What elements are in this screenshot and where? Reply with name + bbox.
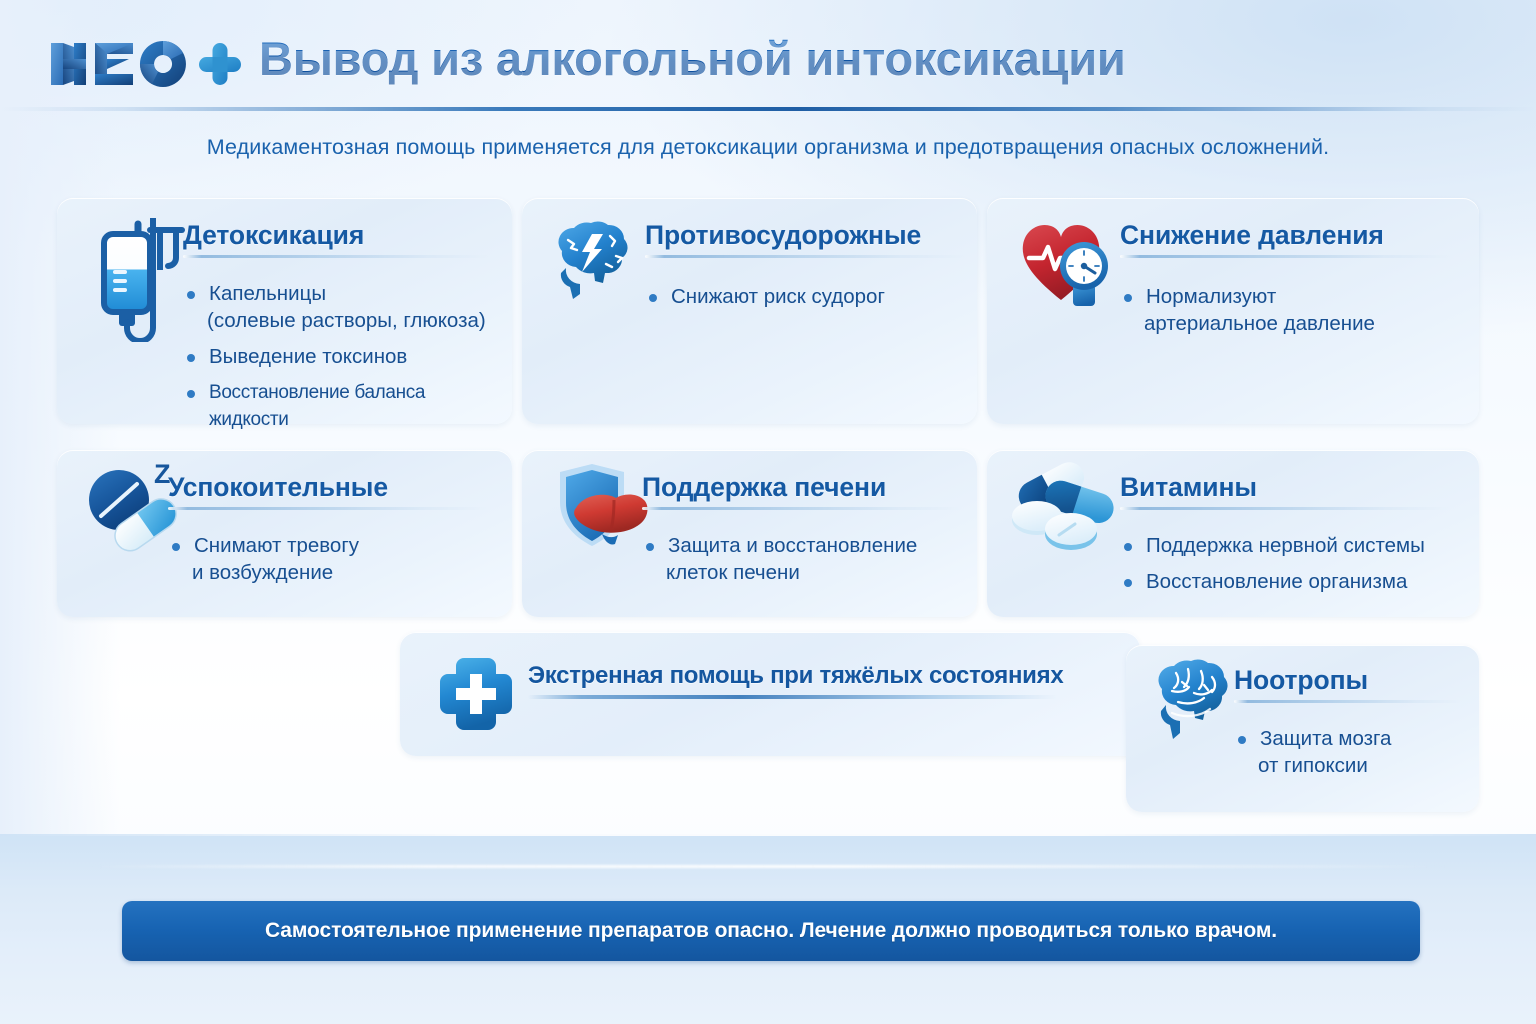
infographic-root: Вывод из алкогольной интоксикации Медика… <box>0 0 1536 1024</box>
bullet-text: Защита и восстановление <box>668 534 917 557</box>
card-vitamins-header: Витамины <box>1120 472 1450 510</box>
heart-pressure-gauge-icon <box>1017 214 1121 319</box>
card-vitamins-bullets: Поддержка нервной системы Восстановление… <box>1120 532 1470 604</box>
card-nootropics-bullets: Защита мозга от гипоксии <box>1234 725 1464 788</box>
card-blood-pressure[interactable]: Снижение давления Нормализуют артериальн… <box>987 198 1479 424</box>
card-liver-support-bullets: Защита и восстановление клеток печени <box>642 532 972 595</box>
card-anticonvulsants-header: Противосудорожные <box>645 220 965 258</box>
bullet-text: Снижают риск судорог <box>671 285 885 308</box>
list-item: Защита и восстановление клеток печени <box>642 532 972 586</box>
neo-plus-logo-icon <box>47 33 242 95</box>
card-sedatives-title: Успокоительные <box>168 472 488 503</box>
pills-cluster-icon <box>1001 458 1121 563</box>
shield-liver-icon <box>546 462 650 563</box>
bullet-subtext: (солевые растворы, глюкоза) <box>207 307 503 334</box>
title-underline <box>645 255 965 258</box>
emergency-help-banner[interactable]: Экстренная помощь при тяжёлых состояниях <box>400 632 1140 756</box>
list-item: Снижают риск судорог <box>645 283 955 310</box>
header-divider <box>0 107 1536 111</box>
brain-lightning-icon <box>544 218 640 315</box>
emergency-underline <box>528 695 1058 699</box>
card-vitamins[interactable]: Витамины Поддержка нервной системы Восст… <box>987 450 1479 617</box>
card-liver-support-title: Поддержка печени <box>642 472 962 503</box>
bullet-text: Поддержка нервной системы <box>1146 534 1425 557</box>
bullet-subtext: артериальное давление <box>1144 310 1460 337</box>
card-sedatives[interactable]: Z Успокоительные Снимают тревогу и возбу… <box>57 450 512 617</box>
card-detox[interactable]: Детоксикация Капельницы (солевые раствор… <box>57 198 512 424</box>
bullet-text: Капельницы <box>209 282 326 305</box>
page-subtitle: Медикаментозная помощь применяется для д… <box>0 135 1536 160</box>
list-item: Капельницы (солевые растворы, глюкоза) <box>183 280 503 334</box>
header: Вывод из алкогольной интоксикации <box>0 0 1536 112</box>
iv-drip-icon <box>86 218 190 347</box>
title-underline <box>1234 700 1462 703</box>
list-item: Восстановление баланса жидкости <box>183 379 503 433</box>
emergency-help-text-block: Экстренная помощь при тяжёлых состояниях <box>528 662 1058 699</box>
card-nootropics-header: Ноотропы <box>1234 665 1462 703</box>
bullet-text: Восстановление организма <box>1146 570 1407 593</box>
page-title: Вывод из алкогольной интоксикации <box>259 31 1126 86</box>
list-item: Нормализуют артериальное давление <box>1120 283 1460 337</box>
card-liver-support[interactable]: Поддержка печени Защита и восстановление… <box>522 450 977 617</box>
list-item: Выведение токсинов <box>183 343 503 370</box>
card-detox-bullets: Капельницы (солевые растворы, глюкоза) В… <box>183 280 503 442</box>
brain-icon <box>1146 657 1238 752</box>
title-underline <box>1120 255 1450 258</box>
bullet-text: Нормализуют <box>1146 285 1276 308</box>
title-underline <box>642 507 962 510</box>
card-anticonvulsants-title: Противосудорожные <box>645 220 965 251</box>
title-underline <box>183 255 488 258</box>
title-underline <box>168 507 488 510</box>
card-anticonvulsants[interactable]: Противосудорожные Снижают риск судорог <box>522 198 977 424</box>
card-liver-support-header: Поддержка печени <box>642 472 962 510</box>
card-anticonvulsants-bullets: Снижают риск судорог <box>645 283 955 319</box>
bullet-text: Выведение токсинов <box>209 345 407 368</box>
emergency-help-title: Экстренная помощь при тяжёлых состояниях <box>528 662 1058 690</box>
bullet-text: Снимают тревогу <box>194 534 359 557</box>
list-item: Восстановление организма <box>1120 568 1470 595</box>
card-vitamins-title: Витамины <box>1120 472 1450 503</box>
card-blood-pressure-header: Снижение давления <box>1120 220 1450 258</box>
card-sedatives-bullets: Снимают тревогу и возбуждение <box>168 532 488 595</box>
card-detox-header: Детоксикация <box>183 220 488 258</box>
card-sedatives-header: Успокоительные <box>168 472 488 510</box>
card-nootropics[interactable]: Ноотропы Защита мозга от гипоксии <box>1126 645 1479 812</box>
bullet-text: Защита мозга <box>1260 727 1391 750</box>
card-blood-pressure-title: Снижение давления <box>1120 220 1450 251</box>
bullet-text: Восстановление баланса жидкости <box>209 382 425 430</box>
background-highlight-streak <box>90 865 1446 868</box>
list-item: Поддержка нервной системы <box>1120 532 1470 559</box>
bullet-subtext: и возбуждение <box>192 559 488 586</box>
card-blood-pressure-bullets: Нормализуют артериальное давление <box>1120 283 1460 346</box>
title-underline <box>1120 507 1450 510</box>
card-detox-title: Детоксикация <box>183 220 488 251</box>
bullet-subtext: от гипоксии <box>1258 752 1464 779</box>
list-item: Снимают тревогу и возбуждение <box>168 532 488 586</box>
warning-text: Самостоятельное применение препаратов оп… <box>265 919 1277 943</box>
warning-banner[interactable]: Самостоятельное применение препаратов оп… <box>122 901 1420 961</box>
card-nootropics-title: Ноотропы <box>1234 665 1462 696</box>
list-item: Защита мозга от гипоксии <box>1234 725 1464 779</box>
bullet-subtext: клеток печени <box>666 559 972 586</box>
medical-cross-icon <box>436 654 516 739</box>
